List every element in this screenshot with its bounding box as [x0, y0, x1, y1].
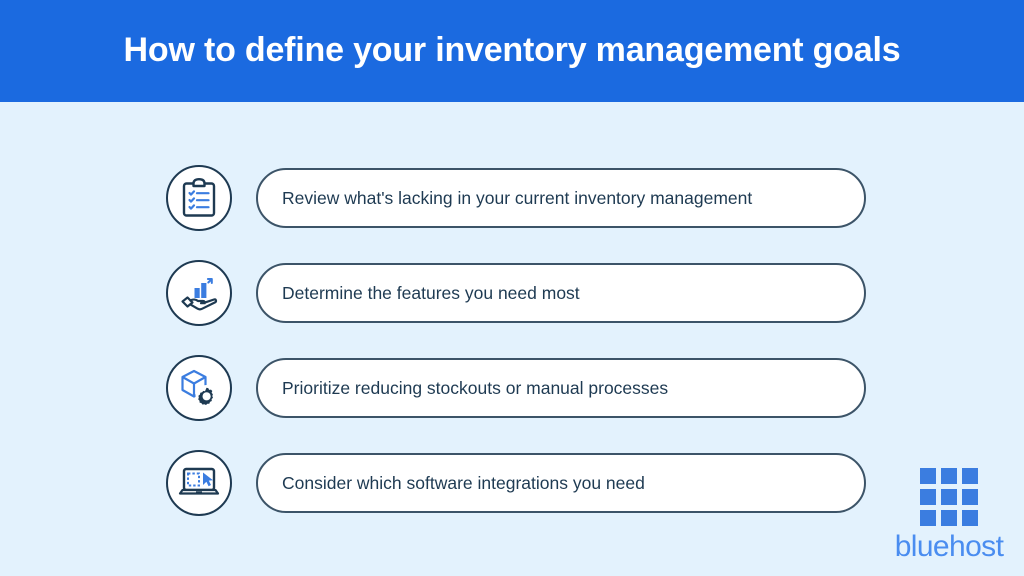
logo-square	[962, 489, 978, 505]
list-item: Prioritize reducing stockouts or manual …	[166, 354, 866, 422]
list-item: Determine the features you need most	[166, 259, 866, 327]
step-label: Prioritize reducing stockouts or manual …	[258, 378, 688, 399]
logo-square	[920, 510, 936, 526]
bluehost-logo: bluehost	[893, 468, 1005, 562]
header-banner: How to define your inventory management …	[0, 0, 1024, 102]
step-label: Determine the features you need most	[258, 283, 600, 304]
step-pill: Determine the features you need most	[256, 263, 866, 323]
step-icon-circle	[166, 165, 232, 231]
step-icon-circle	[166, 260, 232, 326]
step-label: Consider which software integrations you…	[258, 473, 665, 494]
step-pill: Review what's lacking in your current in…	[256, 168, 866, 228]
clipboard-checklist-icon	[180, 178, 218, 218]
step-icon-circle	[166, 450, 232, 516]
logo-square	[941, 510, 957, 526]
logo-square	[962, 468, 978, 484]
hand-holding-bar-chart-icon	[179, 274, 219, 312]
laptop-cursor-icon	[178, 465, 220, 501]
steps-list: Review what's lacking in your current in…	[166, 164, 866, 517]
logo-square	[962, 510, 978, 526]
list-item: Review what's lacking in your current in…	[166, 164, 866, 232]
step-pill: Consider which software integrations you…	[256, 453, 866, 513]
list-item: Consider which software integrations you…	[166, 449, 866, 517]
step-label: Review what's lacking in your current in…	[258, 188, 772, 209]
logo-square	[941, 489, 957, 505]
bluehost-grid-icon	[920, 468, 978, 526]
box-gear-icon	[179, 368, 219, 408]
step-pill: Prioritize reducing stockouts or manual …	[256, 358, 866, 418]
logo-square	[920, 489, 936, 505]
logo-square	[941, 468, 957, 484]
page-title: How to define your inventory management …	[124, 32, 901, 69]
logo-wordmark: bluehost	[893, 532, 1005, 562]
step-icon-circle	[166, 355, 232, 421]
logo-square	[920, 468, 936, 484]
